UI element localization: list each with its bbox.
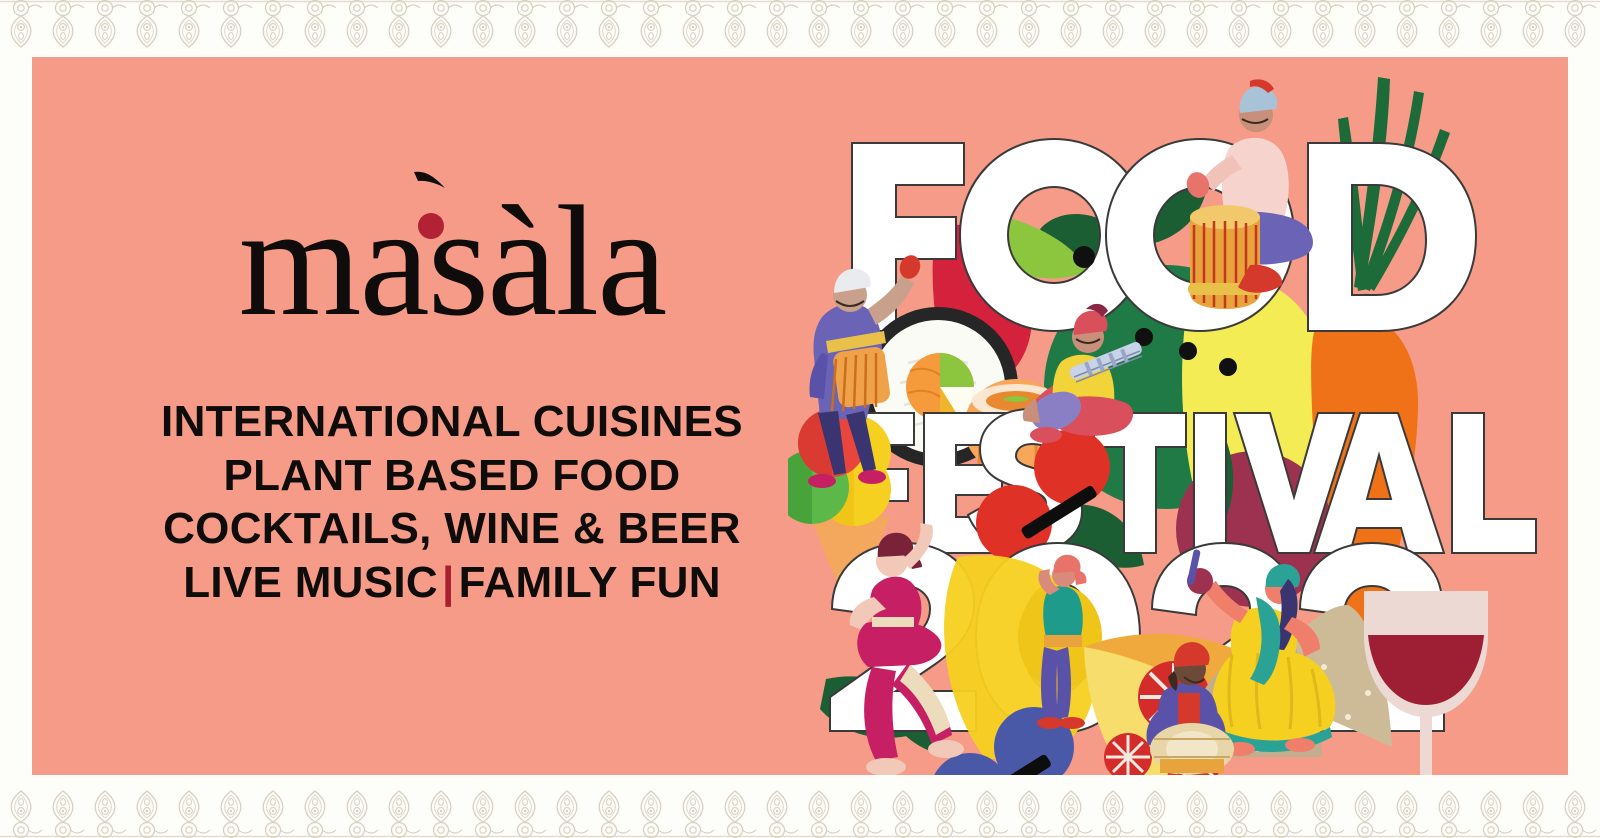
seed-dot xyxy=(1219,358,1237,376)
seed-dot xyxy=(1179,342,1197,360)
tagline-list: INTERNATIONAL CUISINES PLANT BASED FOOD … xyxy=(112,395,792,610)
seed-dot xyxy=(1073,246,1095,268)
tagline-line-3: COCKTAILS, WINE & BEER xyxy=(112,502,792,556)
poster-canvas: masàla INTERNATIONAL CUISINES PLANT BASE… xyxy=(0,0,1600,838)
bottom-ornament-border xyxy=(0,786,1600,838)
masala-logo: masàla xyxy=(112,167,792,357)
tagline-separator: | xyxy=(438,558,459,607)
tagline-line-1: INTERNATIONAL CUISINES xyxy=(112,395,792,449)
tagline-line-2: PLANT BASED FOOD xyxy=(112,449,792,503)
tagline-family-fun: FAMILY FUN xyxy=(459,558,721,607)
left-content-column: masàla INTERNATIONAL CUISINES PLANT BASE… xyxy=(112,167,792,610)
masala-logo-text: masàla xyxy=(239,183,666,341)
tagline-line-4: LIVE MUSIC|FAMILY FUN xyxy=(112,556,792,610)
top-ornament-border xyxy=(0,0,1600,52)
logo-accent-dot xyxy=(418,213,444,239)
tabla-player-seated xyxy=(1184,79,1313,309)
wine-glass xyxy=(1364,591,1488,775)
food-festival-illustration xyxy=(788,57,1568,775)
tagline-live-music: LIVE MUSIC xyxy=(183,558,438,607)
coral-panel: masàla INTERNATIONAL CUISINES PLANT BASE… xyxy=(32,57,1568,775)
